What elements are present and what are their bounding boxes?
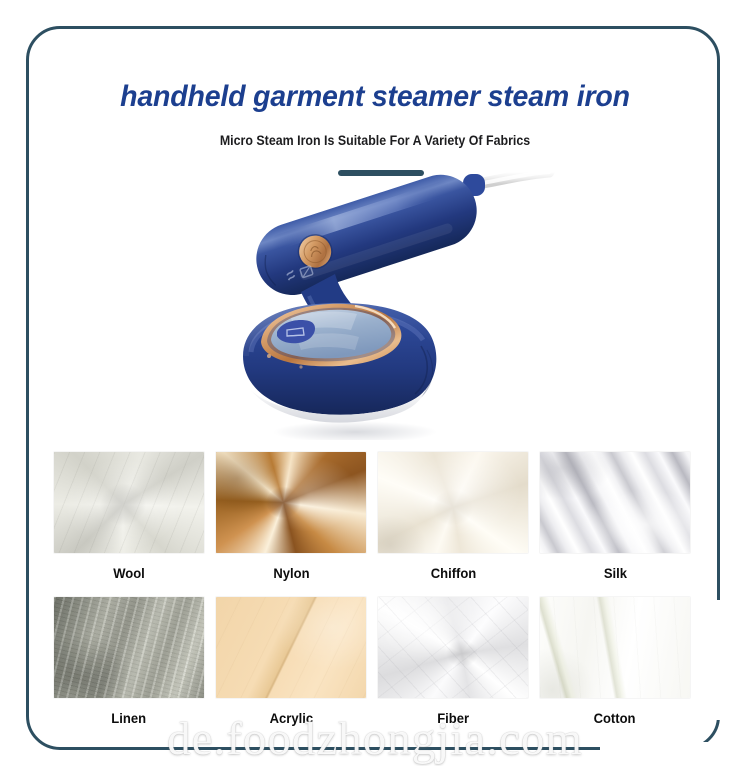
fabric-item[interactable]: Nylon: [214, 452, 368, 597]
frame-gap-mask-right: [716, 600, 750, 720]
fabric-item[interactable]: Cotton: [538, 597, 692, 742]
fabric-label: Fiber: [437, 710, 469, 726]
fabric-label: Wool: [113, 565, 145, 581]
product-banner: handheld garment steamer steam iron Micr…: [0, 0, 750, 766]
fabric-item[interactable]: Fiber: [376, 597, 530, 742]
fabric-item[interactable]: Silk: [538, 452, 692, 597]
fabric-swatch-wool[interactable]: [54, 452, 204, 553]
fabric-swatch-nylon[interactable]: [216, 452, 366, 553]
fabric-grid: Wool Nylon Chiffon Silk Linen: [52, 452, 692, 742]
fabric-item[interactable]: Chiffon: [376, 452, 530, 597]
fabric-label: Acrylic: [269, 710, 312, 726]
fabric-swatch-fiber[interactable]: [378, 597, 528, 698]
fabric-texture: [378, 597, 528, 698]
frame-gap-mask-bottom: [600, 742, 750, 766]
fabric-texture: [540, 597, 690, 698]
fabric-swatch-silk[interactable]: [540, 452, 690, 553]
fabric-label: Chiffon: [430, 565, 476, 581]
fabric-texture: [54, 452, 204, 553]
page-title: handheld garment steamer steam iron: [19, 80, 732, 114]
fabric-swatch-acrylic[interactable]: [216, 597, 366, 698]
fabric-texture: [540, 452, 690, 553]
fabric-texture: [216, 452, 366, 553]
fabric-texture: [54, 597, 204, 698]
fabric-label: Cotton: [594, 710, 636, 726]
fabric-item[interactable]: Wool: [52, 452, 206, 597]
fabric-label: Nylon: [273, 565, 309, 581]
fabric-texture: [216, 597, 366, 698]
product-shadow: [273, 421, 437, 440]
fabric-label: Linen: [112, 710, 147, 726]
fabric-swatch-cotton[interactable]: [540, 597, 690, 698]
page-subtitle: Micro Steam Iron Is Suitable For A Varie…: [30, 133, 720, 148]
fabric-label: Silk: [603, 565, 626, 581]
fabric-item[interactable]: Acrylic: [214, 597, 368, 742]
steamer-handle: [247, 165, 486, 304]
fabric-texture: [378, 452, 528, 553]
product-image: [205, 160, 565, 440]
fabric-item[interactable]: Linen: [52, 597, 206, 742]
fabric-swatch-chiffon[interactable]: [378, 452, 528, 553]
fabric-swatch-linen[interactable]: [54, 597, 204, 698]
